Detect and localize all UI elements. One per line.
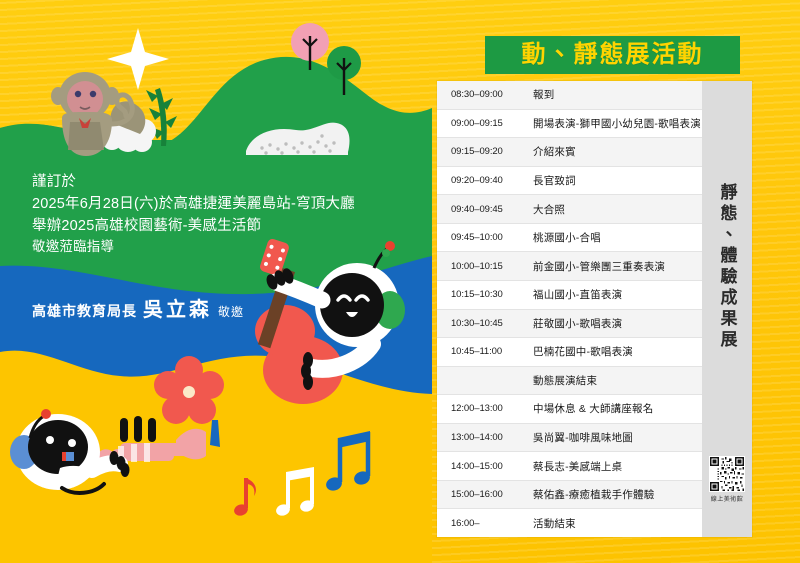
schedule-event: 前金國小-管樂團三重奏表演	[523, 259, 665, 274]
schedule-row: 09:00–09:15開場表演-獅甲國小幼兒園-歌唱表演	[437, 110, 702, 139]
schedule-event: 中場休息 & 大師講座報名	[523, 401, 653, 416]
schedule-time: 08:30–09:00	[451, 89, 523, 100]
qr-block[interactable]: 線上美術館	[709, 456, 745, 503]
schedule-event: 活動結束	[523, 516, 576, 531]
schedule-time: 10:30–10:45	[451, 318, 523, 329]
schedule-row: 10:15–10:30福山國小-直笛表演	[437, 281, 702, 310]
signature-name: 吳立森	[143, 293, 212, 322]
static-exhibition-sidepanel: 靜態、體驗成果展	[702, 81, 752, 537]
schedule-time: 10:15–10:30	[451, 289, 523, 300]
schedule-row: 09:15–09:20介紹來賓	[437, 138, 702, 167]
schedule-time: 15:00–16:00	[451, 489, 523, 500]
schedule-row: 16:00–活動結束	[437, 509, 702, 537]
schedule-event: 大合照	[523, 202, 565, 217]
schedule-time: 09:20–09:40	[451, 175, 523, 186]
schedule-time: 09:15–09:20	[451, 146, 523, 157]
schedule-event: 蔡佑鑫-療癒植栽手作體驗	[523, 487, 654, 502]
schedule-time: 10:00–10:15	[451, 261, 523, 272]
invite-line-2: 2025年6月28日(六)於高雄捷運美麗島站-穹頂大廳	[32, 194, 412, 216]
schedule-event: 蔡長志-美感端上桌	[523, 459, 622, 474]
schedule-row: 10:45–11:00巴楠花國中-歌唱表演	[437, 338, 702, 367]
schedule-row: 08:30–09:00報到	[437, 81, 702, 110]
schedule-time: 09:45–10:00	[451, 232, 523, 243]
schedule-row: 動態展演結束	[437, 367, 702, 396]
schedule-row: 09:40–09:45大合照	[437, 195, 702, 224]
schedule-event: 巴楠花國中-歌唱表演	[523, 344, 633, 359]
schedule-time: 10:45–11:00	[451, 346, 523, 357]
schedule-event: 吳尚翼-咖啡風味地圖	[523, 430, 633, 445]
schedule-row: 10:00–10:15前金國小-管樂團三重奏表演	[437, 252, 702, 281]
schedule-time: 09:40–09:45	[451, 204, 523, 215]
schedule-row: 15:00–16:00蔡佑鑫-療癒植栽手作體驗	[437, 481, 702, 510]
schedule-event: 報到	[523, 87, 554, 102]
schedule-event: 開場表演-獅甲國小幼兒園-歌唱表演	[523, 116, 701, 131]
activity-title-text: 動、靜態展活動	[522, 43, 704, 67]
schedule-time: 13:00–14:00	[451, 432, 523, 443]
schedule-event: 長官致詞	[523, 173, 576, 188]
invite-line-1: 謹訂於	[32, 172, 412, 194]
invitation-text: 謹訂於 2025年6月28日(六)於高雄捷運美麗島站-穹頂大廳 舉辦2025高雄…	[32, 172, 412, 258]
qr-code-label: 線上美術館	[711, 494, 744, 503]
schedule-time: 12:00–13:00	[451, 403, 523, 414]
schedule-panel: 08:30–09:00報到09:00–09:15開場表演-獅甲國小幼兒園-歌唱表…	[437, 81, 752, 537]
signature-suffix: 敬邀	[218, 303, 244, 320]
qr-code-icon[interactable]	[709, 456, 745, 492]
invite-line-4: 敬邀蒞臨指導	[32, 237, 412, 257]
schedule-row: 10:30–10:45莊敬國小-歌唱表演	[437, 310, 702, 339]
invite-line-3: 舉辦2025高雄校園藝術-美感生活節	[32, 216, 412, 238]
activity-title-banner: 動、靜態展活動	[485, 36, 740, 74]
schedule-time: 16:00–	[451, 518, 523, 529]
schedule-table: 08:30–09:00報到09:00–09:15開場表演-獅甲國小幼兒園-歌唱表…	[437, 81, 702, 537]
schedule-event: 莊敬國小-歌唱表演	[523, 316, 622, 331]
schedule-row: 09:45–10:00桃源國小-合唱	[437, 224, 702, 253]
signature-title: 高雄市教育局長	[32, 301, 137, 321]
schedule-row: 14:00–15:00蔡長志-美感端上桌	[437, 452, 702, 481]
sparkle-star	[107, 28, 169, 90]
poster-canvas: 謹訂於 2025年6月28日(六)於高雄捷運美麗島站-穹頂大廳 舉辦2025高雄…	[0, 0, 800, 563]
artwork-illustration	[0, 0, 432, 563]
signature-block: 高雄市教育局長 吳立森 敬邀	[32, 293, 244, 322]
static-exhibition-title: 靜態、體驗成果展	[719, 183, 736, 351]
schedule-event: 介紹來賓	[523, 144, 576, 159]
schedule-event: 動態展演結束	[523, 373, 597, 388]
schedule-event: 福山國小-直笛表演	[523, 287, 622, 302]
schedule-row: 12:00–13:00中場休息 & 大師講座報名	[437, 395, 702, 424]
schedule-time: 09:00–09:15	[451, 118, 523, 129]
schedule-row: 13:00–14:00吳尚翼-咖啡風味地圖	[437, 424, 702, 453]
schedule-event: 桃源國小-合唱	[523, 230, 601, 245]
schedule-row: 09:20–09:40長官致詞	[437, 167, 702, 196]
schedule-time: 14:00–15:00	[451, 461, 523, 472]
